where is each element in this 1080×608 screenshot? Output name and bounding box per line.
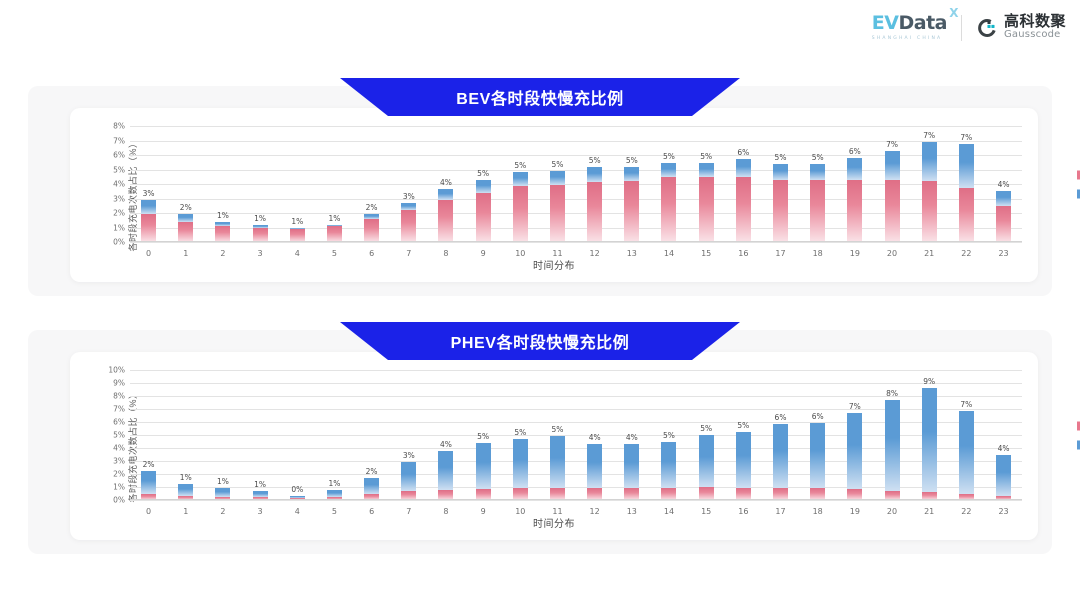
- phev-bar-stack[interactable]: [587, 444, 602, 500]
- gausscode-text: 高科数聚 Gausscode: [1004, 14, 1066, 40]
- bev-bar-value-label: 5%: [663, 152, 675, 161]
- bev-bar-segment-fast[interactable]: [141, 214, 156, 242]
- bev-bar-value-label: 4%: [998, 180, 1010, 189]
- phev-bar-value-label: 5%: [477, 432, 489, 441]
- phev-bar-column[interactable]: 4%: [576, 370, 613, 500]
- bev-bar-stack[interactable]: [922, 142, 937, 242]
- phev-y-tick: 0%: [113, 496, 125, 505]
- bev-y-tick: 8%: [113, 122, 125, 131]
- phev-bar-value-label: 0%: [291, 485, 303, 494]
- phev-bar-stack[interactable]: [438, 451, 453, 500]
- phev-bar-stack[interactable]: [959, 411, 974, 500]
- bev-bar-segment-fast[interactable]: [476, 193, 491, 242]
- phev-bar-column[interactable]: 2%: [130, 370, 167, 500]
- bev-chart: 各时段充电次数占比（%） 0%1%2%3%4%5%6%7%8% 3%2%1%1%…: [70, 108, 1038, 282]
- phev-y-tick: 4%: [113, 444, 125, 453]
- phev-bar-stack[interactable]: [922, 388, 937, 500]
- bev-bar-stack[interactable]: [178, 214, 193, 242]
- gausscode-mark-icon: [976, 17, 998, 39]
- phev-bar-column[interactable]: 7%: [836, 370, 873, 500]
- phev-bar-value-label: 7%: [960, 400, 972, 409]
- bev-bar-column[interactable]: 5%: [539, 126, 576, 242]
- phev-bar-segment-slow[interactable]: [327, 490, 342, 498]
- gausscode-en-name: Gausscode: [1004, 30, 1066, 41]
- phev-bar-column[interactable]: 1%: [167, 370, 204, 500]
- bev-bar-stack[interactable]: [773, 164, 788, 242]
- phev-bar-column[interactable]: 3%: [390, 370, 427, 500]
- bev-bar-column[interactable]: 3%: [390, 126, 427, 242]
- phev-bar-stack[interactable]: [513, 439, 528, 500]
- phev-bar-column[interactable]: 4%: [985, 370, 1022, 500]
- phev-bar-value-label: 4%: [998, 444, 1010, 453]
- bev-bar-segment-fast[interactable]: [922, 181, 937, 242]
- bev-bar-column[interactable]: 7%: [873, 126, 910, 242]
- bev-bar-segment-fast[interactable]: [364, 219, 379, 242]
- bev-bar-value-label: 2%: [366, 203, 378, 212]
- logo-divider: [961, 15, 962, 41]
- bev-y-tick: 2%: [113, 209, 125, 218]
- phev-bar-stack[interactable]: [699, 435, 714, 500]
- phev-bar-stack[interactable]: [810, 423, 825, 500]
- phev-plot-wrap: 0%1%2%3%4%5%6%7%8%9%10% 2%1%1%1%0%1%2%3%…: [104, 370, 1022, 500]
- bev-y-tick: 0%: [113, 238, 125, 247]
- phev-bar-stack[interactable]: [996, 455, 1011, 501]
- bev-bar-segment-slow[interactable]: [438, 189, 453, 200]
- bev-bar-column[interactable]: 4%: [985, 126, 1022, 242]
- bev-bar-segment-fast[interactable]: [959, 188, 974, 242]
- bev-bar-column[interactable]: 2%: [167, 126, 204, 242]
- bev-bar-value-label: 6%: [849, 147, 861, 156]
- phev-y-tick: 3%: [113, 457, 125, 466]
- phev-bar-stack[interactable]: [550, 436, 565, 500]
- phev-bar-stack[interactable]: [364, 478, 379, 500]
- bev-bar-value-label: 5%: [589, 156, 601, 165]
- bev-bar-stack[interactable]: [550, 171, 565, 242]
- bev-bar-stack[interactable]: [624, 167, 639, 242]
- bev-bar-segment-fast[interactable]: [773, 180, 788, 242]
- phev-bar-segment-slow[interactable]: [922, 388, 937, 492]
- phev-bar-column[interactable]: 5%: [688, 370, 725, 500]
- phev-bar-value-label: 1%: [328, 479, 340, 488]
- bev-bar-value-label: 1%: [328, 214, 340, 223]
- phev-bar-value-label: 2%: [366, 467, 378, 476]
- phev-bar-column[interactable]: 4%: [613, 370, 650, 500]
- bev-bar-stack[interactable]: [327, 225, 342, 242]
- bev-bar-stack[interactable]: [810, 164, 825, 242]
- phev-bar-value-label: 1%: [254, 480, 266, 489]
- bev-bar-segment-slow[interactable]: [996, 191, 1011, 207]
- bev-bar-value-label: 5%: [626, 156, 638, 165]
- phev-bar-column[interactable]: 1%: [316, 370, 353, 500]
- phev-bar-segment-slow[interactable]: [215, 488, 230, 496]
- phev-y-tick: 9%: [113, 379, 125, 388]
- bev-bar-stack[interactable]: [476, 180, 491, 242]
- bev-chart-card: 各时段充电次数占比（%） 0%1%2%3%4%5%6%7%8% 3%2%1%1%…: [70, 108, 1038, 282]
- phev-bar-column[interactable]: 5%: [465, 370, 502, 500]
- phev-y-tick: 8%: [113, 392, 125, 401]
- phev-bar-column[interactable]: 4%: [427, 370, 464, 500]
- bev-bar-segment-fast[interactable]: [401, 210, 416, 242]
- bev-bar-stack[interactable]: [253, 225, 268, 242]
- bev-bar-column[interactable]: 5%: [465, 126, 502, 242]
- evdata-data-text: Data: [898, 12, 947, 34]
- page-header: EVData X SHANGHAI CHINA 高科数聚 Gausscode: [0, 0, 1080, 62]
- phev-bar-column[interactable]: 1%: [204, 370, 241, 500]
- phev-y-tick: 7%: [113, 405, 125, 414]
- phev-bar-column[interactable]: 5%: [502, 370, 539, 500]
- phev-bar-value-label: 1%: [217, 477, 229, 486]
- phev-bar-value-label: 2%: [143, 460, 155, 469]
- bev-bar-segment-fast[interactable]: [847, 180, 862, 242]
- phev-bar-value-label: 6%: [812, 412, 824, 421]
- bev-bar-value-label: 5%: [514, 161, 526, 170]
- bev-bar-segment-slow[interactable]: [513, 172, 528, 186]
- bev-bar-column[interactable]: 1%: [316, 126, 353, 242]
- bev-bar-segment-fast[interactable]: [810, 180, 825, 242]
- bev-bars: 3%2%1%1%1%1%2%3%4%5%5%5%5%5%5%5%6%5%5%6%…: [130, 126, 1022, 242]
- phev-bar-segment-slow[interactable]: [364, 478, 379, 494]
- phev-bar-segment-slow[interactable]: [661, 442, 676, 489]
- bev-bar-column[interactable]: 7%: [911, 126, 948, 242]
- phev-bar-stack[interactable]: [661, 442, 676, 501]
- phev-bar-segment-slow[interactable]: [699, 435, 714, 487]
- bev-bar-stack[interactable]: [290, 228, 305, 243]
- bev-bar-segment-slow[interactable]: [847, 158, 862, 180]
- bev-bar-value-label: 7%: [923, 131, 935, 140]
- bev-bar-column[interactable]: 5%: [576, 126, 613, 242]
- phev-bar-column[interactable]: 9%: [911, 370, 948, 500]
- phev-chart-card: 各时段充电次数占比（%） 0%1%2%3%4%5%6%7%8%9%10% 2%1…: [70, 352, 1038, 540]
- phev-bar-column[interactable]: 2%: [353, 370, 390, 500]
- bev-bar-column[interactable]: 5%: [688, 126, 725, 242]
- phev-bar-segment-slow[interactable]: [885, 400, 900, 491]
- phev-bar-stack[interactable]: [178, 484, 193, 500]
- phev-gridline: [130, 500, 1022, 501]
- bev-bar-segment-fast[interactable]: [253, 228, 268, 242]
- phev-y-tick: 5%: [113, 431, 125, 440]
- phev-plot-area: 2%1%1%1%0%1%2%3%4%5%5%5%4%4%5%5%5%6%6%7%…: [130, 370, 1022, 500]
- bev-bar-column[interactable]: 5%: [650, 126, 687, 242]
- phev-y-tick: 2%: [113, 470, 125, 479]
- phev-bar-segment-slow[interactable]: [736, 432, 751, 488]
- phev-bar-column[interactable]: 5%: [539, 370, 576, 500]
- phev-bar-stack[interactable]: [885, 400, 900, 500]
- phev-panel: 各时段充电次数占比（%） 0%1%2%3%4%5%6%7%8%9%10% 2%1…: [28, 330, 1052, 554]
- bev-bar-segment-slow[interactable]: [624, 167, 639, 181]
- phev-bar-segment-slow[interactable]: [847, 413, 862, 489]
- bev-bar-value-label: 6%: [737, 148, 749, 157]
- bev-bar-column[interactable]: 1%: [242, 126, 279, 242]
- bev-y-tick: 6%: [113, 151, 125, 160]
- bev-bar-stack[interactable]: [996, 191, 1011, 242]
- phev-bar-value-label: 7%: [849, 402, 861, 411]
- phev-bar-segment-slow[interactable]: [810, 423, 825, 487]
- phev-bar-column[interactable]: 5%: [725, 370, 762, 500]
- evdata-x-icon: X: [949, 7, 958, 19]
- phev-bar-column[interactable]: 1%: [242, 370, 279, 500]
- phev-ribbon-banner: PHEV各时段快慢充比例: [340, 322, 740, 360]
- phev-bars: 2%1%1%1%0%1%2%3%4%5%5%5%4%4%5%5%5%6%6%7%…: [130, 370, 1022, 500]
- bev-bar-column[interactable]: 5%: [502, 126, 539, 242]
- evdata-ev-text: EV: [872, 12, 899, 34]
- phev-bar-segment-slow[interactable]: [550, 436, 565, 488]
- phev-bar-stack[interactable]: [736, 432, 751, 500]
- logo-row: EVData X SHANGHAI CHINA 高科数聚 Gausscode: [872, 14, 1066, 41]
- bev-plot-area: 3%2%1%1%1%1%2%3%4%5%5%5%5%5%5%5%6%5%5%6%…: [130, 126, 1022, 242]
- bev-bar-segment-fast[interactable]: [624, 181, 639, 242]
- bev-bar-segment-slow[interactable]: [141, 200, 156, 214]
- phev-bar-stack[interactable]: [476, 443, 491, 500]
- bev-bar-stack[interactable]: [438, 189, 453, 242]
- bev-bar-column[interactable]: 1%: [279, 126, 316, 242]
- bev-bar-value-label: 3%: [403, 192, 415, 201]
- bev-bar-value-label: 1%: [291, 217, 303, 226]
- phev-x-axis-label: 时间分布: [70, 515, 1038, 530]
- bev-bar-segment-slow[interactable]: [476, 180, 491, 192]
- phev-bar-stack[interactable]: [847, 413, 862, 500]
- bev-bar-column[interactable]: 6%: [725, 126, 762, 242]
- phev-y-tick: 6%: [113, 418, 125, 427]
- phev-bar-stack[interactable]: [624, 444, 639, 500]
- phev-bar-segment-slow[interactable]: [476, 443, 491, 488]
- evdata-tagline: SHANGHAI CHINA: [872, 36, 943, 41]
- phev-chart: 各时段充电次数占比（%） 0%1%2%3%4%5%6%7%8%9%10% 2%1…: [70, 352, 1038, 540]
- bev-ribbon-title: BEV各时段快慢充比例: [456, 85, 624, 109]
- phev-bar-value-label: 4%: [626, 433, 638, 442]
- phev-bar-value-label: 9%: [923, 377, 935, 386]
- bev-bar-column[interactable]: 5%: [762, 126, 799, 242]
- phev-bar-value-label: 1%: [180, 473, 192, 482]
- bev-bar-value-label: 3%: [143, 189, 155, 198]
- bev-bar-value-label: 5%: [552, 160, 564, 169]
- bev-gridline: [130, 242, 1022, 243]
- bev-bar-segment-slow[interactable]: [773, 164, 788, 179]
- bev-bar-segment-slow[interactable]: [550, 171, 565, 185]
- phev-bar-value-label: 5%: [737, 421, 749, 430]
- bev-bar-stack[interactable]: [847, 158, 862, 242]
- bev-bar-value-label: 5%: [477, 169, 489, 178]
- bev-bar-segment-slow[interactable]: [401, 203, 416, 210]
- phev-y-ticks: 0%1%2%3%4%5%6%7%8%9%10%: [104, 370, 128, 500]
- bev-bar-stack[interactable]: [364, 214, 379, 242]
- bev-bar-stack[interactable]: [513, 172, 528, 242]
- phev-bar-stack[interactable]: [773, 424, 788, 500]
- bev-bar-column[interactable]: 2%: [353, 126, 390, 242]
- bev-x-axis-label: 时间分布: [70, 257, 1038, 272]
- bev-bar-value-label: 1%: [217, 211, 229, 220]
- bev-bar-stack[interactable]: [736, 159, 751, 242]
- bev-bar-column[interactable]: 7%: [948, 126, 985, 242]
- phev-bar-column[interactable]: 5%: [650, 370, 687, 500]
- phev-bar-column[interactable]: 6%: [762, 370, 799, 500]
- bev-bar-stack[interactable]: [401, 203, 416, 242]
- bev-bar-segment-slow[interactable]: [885, 151, 900, 180]
- phev-y-tick: 1%: [113, 483, 125, 492]
- bev-bar-segment-fast[interactable]: [550, 185, 565, 242]
- bev-bar-column[interactable]: 3%: [130, 126, 167, 242]
- bev-bar-segment-slow[interactable]: [959, 144, 974, 188]
- phev-bar-segment-slow[interactable]: [587, 444, 602, 488]
- bev-bar-segment-slow[interactable]: [699, 163, 714, 177]
- bev-y-tick: 1%: [113, 223, 125, 232]
- bev-x-axis-line: [130, 241, 1022, 242]
- bev-bar-stack[interactable]: [661, 163, 676, 242]
- phev-bar-segment-slow[interactable]: [438, 451, 453, 490]
- bev-bar-segment-fast[interactable]: [661, 177, 676, 242]
- bev-bar-stack[interactable]: [959, 144, 974, 242]
- phev-y-tick: 10%: [108, 366, 125, 375]
- bev-bar-column[interactable]: 4%: [427, 126, 464, 242]
- bev-y-tick: 4%: [113, 180, 125, 189]
- bev-bar-segment-fast[interactable]: [215, 226, 230, 242]
- bev-bar-segment-slow[interactable]: [922, 142, 937, 181]
- bev-bar-segment-slow[interactable]: [178, 214, 193, 221]
- bev-bar-value-label: 7%: [886, 140, 898, 149]
- phev-bar-stack[interactable]: [141, 471, 156, 500]
- phev-bar-column[interactable]: 7%: [948, 370, 985, 500]
- bev-bar-segment-slow[interactable]: [661, 163, 676, 177]
- bev-y-tick: 5%: [113, 165, 125, 174]
- phev-bar-segment-slow[interactable]: [401, 462, 416, 491]
- bev-bar-value-label: 5%: [700, 152, 712, 161]
- phev-bar-value-label: 4%: [589, 433, 601, 442]
- phev-ribbon-title: PHEV各时段快慢充比例: [451, 329, 630, 353]
- phev-bar-value-label: 5%: [663, 431, 675, 440]
- bev-bar-value-label: 4%: [440, 178, 452, 187]
- phev-bar-segment-slow[interactable]: [773, 424, 788, 488]
- bev-bar-segment-fast[interactable]: [178, 222, 193, 242]
- bev-bar-value-label: 5%: [812, 153, 824, 162]
- bev-bar-stack[interactable]: [215, 222, 230, 242]
- bev-ribbon-banner: BEV各时段快慢充比例: [340, 78, 740, 116]
- gausscode-cn-name: 高科数聚: [1004, 14, 1066, 30]
- bev-bar-segment-fast[interactable]: [513, 186, 528, 242]
- phev-bar-value-label: 5%: [700, 424, 712, 433]
- bev-bar-segment-fast[interactable]: [587, 182, 602, 242]
- phev-bar-segment-slow[interactable]: [996, 455, 1011, 497]
- phev-bar-value-label: 4%: [440, 440, 452, 449]
- bev-bar-value-label: 2%: [180, 203, 192, 212]
- bev-bar-segment-slow[interactable]: [736, 159, 751, 177]
- phev-bar-value-label: 5%: [514, 428, 526, 437]
- phev-bar-segment-slow[interactable]: [141, 471, 156, 494]
- bev-y-tick: 3%: [113, 194, 125, 203]
- bev-bar-segment-fast[interactable]: [736, 177, 751, 242]
- bev-bar-stack[interactable]: [141, 200, 156, 242]
- gausscode-logo: 高科数聚 Gausscode: [976, 14, 1066, 40]
- bev-bar-column[interactable]: 6%: [836, 126, 873, 242]
- bev-bar-value-label: 1%: [254, 214, 266, 223]
- bev-bar-segment-fast[interactable]: [438, 200, 453, 242]
- bev-bar-segment-fast[interactable]: [885, 180, 900, 242]
- bev-bar-segment-fast[interactable]: [996, 206, 1011, 242]
- bev-bar-segment-fast[interactable]: [699, 177, 714, 242]
- bev-bar-segment-fast[interactable]: [327, 226, 342, 242]
- bev-y-tick: 7%: [113, 136, 125, 145]
- phev-bar-column[interactable]: 6%: [799, 370, 836, 500]
- phev-bar-value-label: 6%: [775, 413, 787, 422]
- bev-bar-value-label: 5%: [775, 153, 787, 162]
- phev-bar-value-label: 3%: [403, 451, 415, 460]
- bev-bar-column[interactable]: 5%: [613, 126, 650, 242]
- bev-bar-segment-slow[interactable]: [587, 167, 602, 181]
- evdata-wordmark: EVData X: [872, 14, 947, 33]
- bev-bar-stack[interactable]: [587, 167, 602, 242]
- phev-bar-segment-slow[interactable]: [624, 444, 639, 488]
- bev-bar-column[interactable]: 1%: [204, 126, 241, 242]
- phev-bar-value-label: 8%: [886, 389, 898, 398]
- bev-bar-stack[interactable]: [699, 163, 714, 242]
- phev-bar-segment-slow[interactable]: [959, 411, 974, 494]
- phev-bar-column[interactable]: 0%: [279, 370, 316, 500]
- bev-y-ticks: 0%1%2%3%4%5%6%7%8%: [104, 126, 128, 242]
- phev-bar-column[interactable]: 8%: [873, 370, 910, 500]
- phev-bar-segment-slow[interactable]: [178, 484, 193, 496]
- phev-bar-stack[interactable]: [401, 462, 416, 500]
- bev-bar-segment-slow[interactable]: [810, 164, 825, 179]
- phev-x-axis-line: [130, 499, 1022, 500]
- bev-panel: 各时段充电次数占比（%） 0%1%2%3%4%5%6%7%8% 3%2%1%1%…: [28, 86, 1052, 296]
- bev-bar-stack[interactable]: [885, 151, 900, 242]
- phev-bar-segment-slow[interactable]: [513, 439, 528, 488]
- bev-plot-wrap: 0%1%2%3%4%5%6%7%8% 3%2%1%1%1%1%2%3%4%5%5…: [104, 126, 1022, 242]
- bev-bar-column[interactable]: 5%: [799, 126, 836, 242]
- evdata-logo: EVData X SHANGHAI CHINA: [872, 14, 947, 41]
- phev-bar-value-label: 5%: [552, 425, 564, 434]
- bev-bar-value-label: 7%: [960, 133, 972, 142]
